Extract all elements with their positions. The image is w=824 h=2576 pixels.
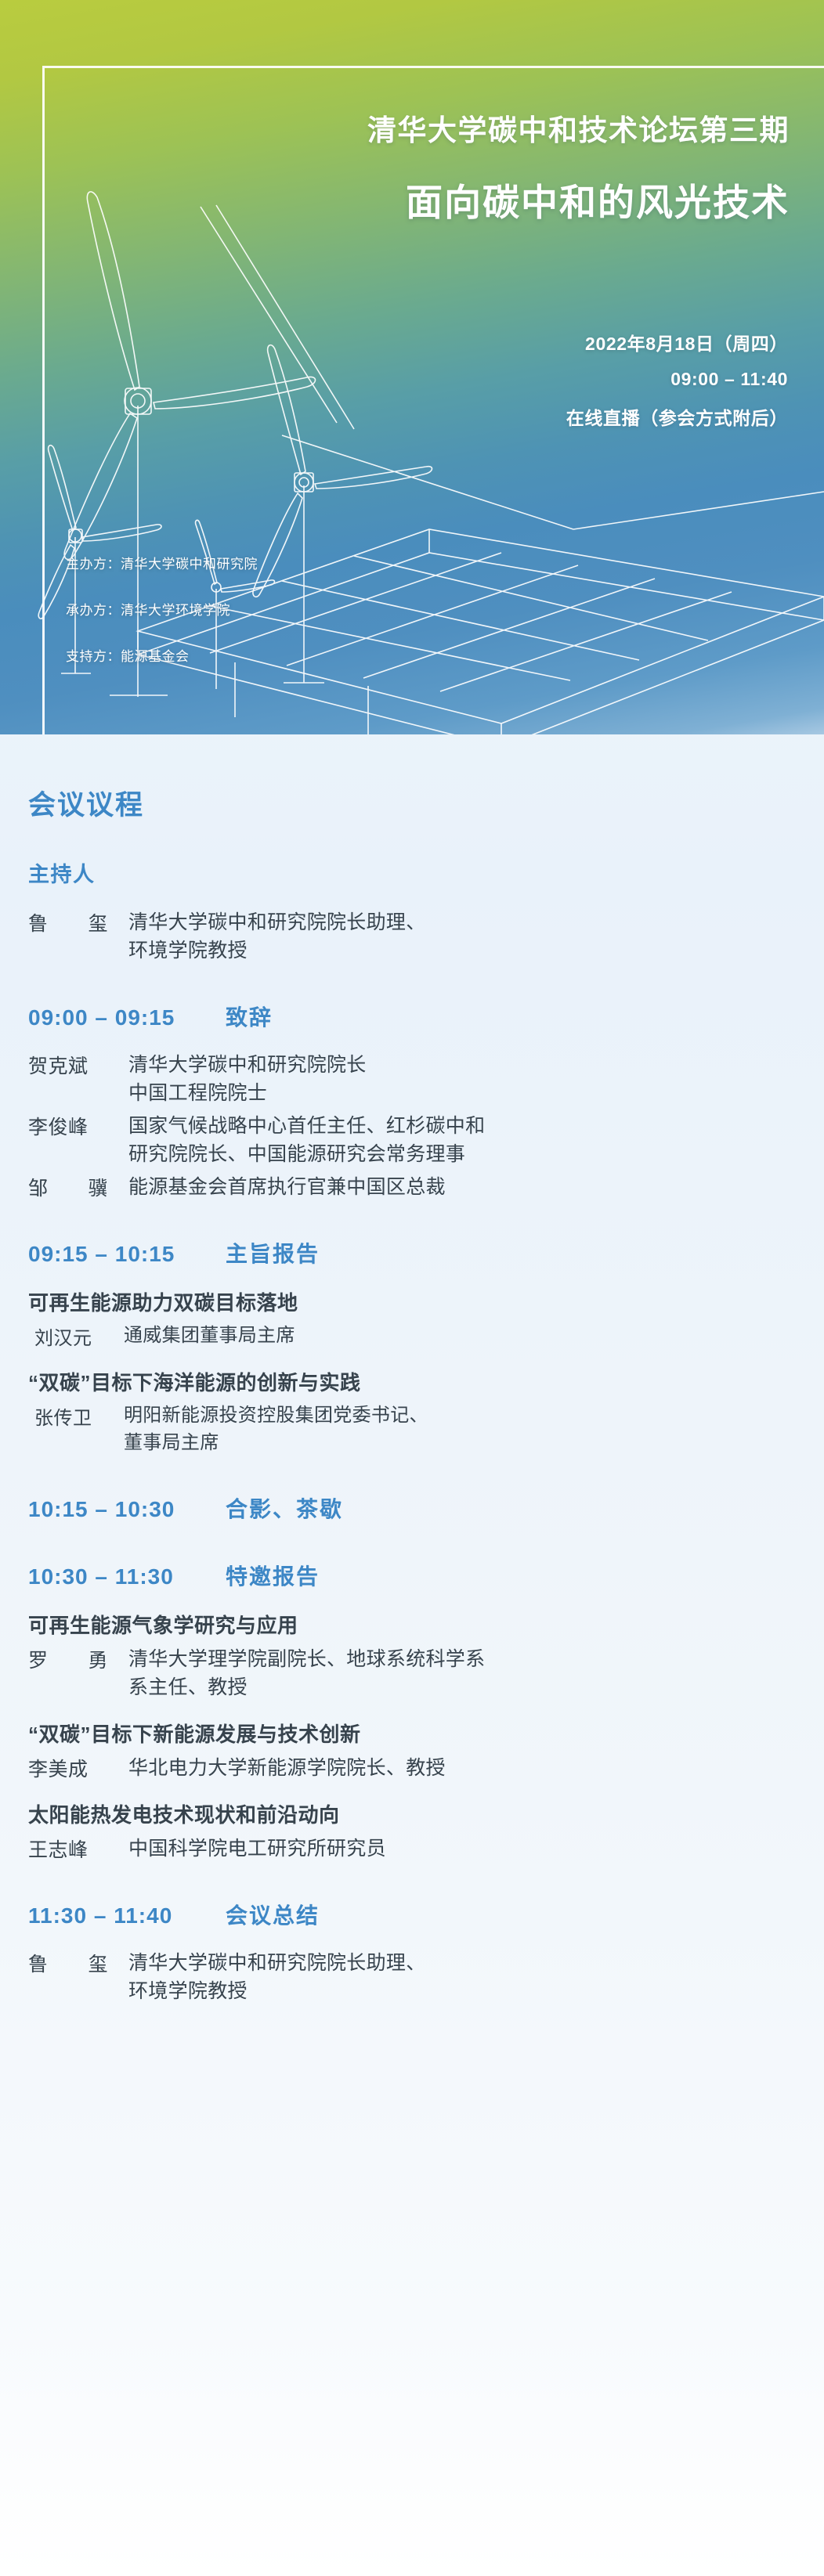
host-affiliation-line2: 环境学院教授 <box>128 940 248 961</box>
host-name: 鲁 玺 <box>28 908 128 936</box>
speaker-affiliation-line: 董事局主席 <box>124 1432 219 1453</box>
speaker-row: 鲁 玺 清华大学碳中和研究院院长助理、 环境学院教授 <box>28 1949 796 2005</box>
speaker-name: 刘汉元 <box>28 1322 124 1350</box>
hero-banner: 清华大学碳中和技术论坛第三期 面向碳中和的风光技术 2022年8月18日（周四）… <box>0 0 824 734</box>
supporter: 支持方：能源基金会 <box>66 645 258 665</box>
talk-speaker-row: 罗 勇 清华大学理学院副院长、地球系统科学系 系主任、教授 <box>28 1645 796 1701</box>
session-time: 09:00 – 09:15 <box>28 1005 226 1030</box>
agenda-heading: 会议议程 <box>28 783 796 823</box>
event-meta: 2022年8月18日（周四） 09:00 – 11:40 在线直播（参会方式附后… <box>0 329 788 443</box>
speaker-affiliation: 清华大学碳中和研究院院长 中国工程院院士 <box>128 1051 796 1107</box>
session-kind: 主旨报告 <box>226 1237 320 1268</box>
co-organizer: 承办方：清华大学环境学院 <box>66 599 258 619</box>
session-kind: 致辞 <box>226 1001 273 1032</box>
session-kind: 特邀报告 <box>226 1560 320 1591</box>
speaker-affiliation: 清华大学碳中和研究院院长助理、 环境学院教授 <box>128 1949 796 2005</box>
speaker-affiliation-line: 系主任、教授 <box>128 1676 248 1698</box>
speaker-affiliation: 中国科学院电工研究所研究员 <box>128 1835 796 1863</box>
forum-series-title: 清华大学碳中和技术论坛第三期 <box>0 106 790 149</box>
conference-poster: 清华大学碳中和技术论坛第三期 面向碳中和的风光技术 2022年8月18日（周四）… <box>0 0 824 2576</box>
speaker-affiliation-line: 研究院院长、中国能源研究会常务理事 <box>128 1143 465 1165</box>
session-header: 10:30 – 11:30 特邀报告 <box>28 1560 796 1591</box>
speaker-affiliation-line: 环境学院教授 <box>128 1980 248 2002</box>
talk-title: 太阳能热发电技术现状和前沿动向 <box>28 1799 796 1828</box>
speaker-name: 李美成 <box>28 1754 128 1782</box>
organizer: 主办方：清华大学碳中和研究院 <box>66 553 258 572</box>
speaker-affiliation: 清华大学理学院副院长、地球系统科学系 系主任、教授 <box>128 1645 796 1701</box>
session-time: 11:30 – 11:40 <box>28 1903 226 1928</box>
event-time: 09:00 – 11:40 <box>0 369 788 390</box>
session-header: 10:15 – 10:30 合影、茶歇 <box>28 1492 796 1524</box>
speaker-row: 李俊峰 国家气候战略中心首任主任、红杉碳中和 研究院院长、中国能源研究会常务理事 <box>28 1112 796 1168</box>
speaker-name: 张传卫 <box>28 1402 124 1430</box>
speaker-name: 贺克斌 <box>28 1051 128 1079</box>
talk-speaker-row: 李美成 华北电力大学新能源学院院长、教授 <box>28 1754 796 1782</box>
speaker-name: 鲁 玺 <box>28 1949 128 1977</box>
session-header: 09:00 – 09:15 致辞 <box>28 1001 796 1032</box>
speaker-affiliation: 通威集团董事局主席 <box>124 1322 796 1350</box>
host-affiliation: 清华大学碳中和研究院院长助理、 环境学院教授 <box>128 908 796 965</box>
speaker-row: 贺克斌 清华大学碳中和研究院院长 中国工程院院士 <box>28 1051 796 1107</box>
speaker-affiliation-line: 清华大学碳中和研究院院长 <box>128 1054 367 1076</box>
speaker-affiliation-line: 中国工程院院士 <box>128 1082 267 1104</box>
host-label: 主持人 <box>28 857 796 888</box>
speaker-affiliation: 能源基金会首席执行官兼中国区总裁 <box>128 1173 796 1201</box>
speaker-name: 李俊峰 <box>28 1112 128 1140</box>
speaker-name: 邹 骥 <box>28 1173 128 1201</box>
talk-title: “双碳”目标下海洋能源的创新与实践 <box>28 1367 796 1396</box>
talk-title: 可再生能源助力双碳目标落地 <box>28 1287 796 1316</box>
speaker-affiliation-line: 明阳新能源投资控股集团党委书记、 <box>124 1405 428 1426</box>
talk-speaker-row: 刘汉元 通威集团董事局主席 <box>28 1322 796 1350</box>
speaker-name: 王志峰 <box>28 1835 128 1863</box>
session-kind: 合影、茶歇 <box>226 1492 343 1524</box>
speaker-affiliation-line: 清华大学碳中和研究院院长助理、 <box>128 1952 426 1974</box>
talk-title: “双碳”目标下新能源发展与技术创新 <box>28 1719 796 1748</box>
speaker-affiliation-line: 清华大学理学院副院长、地球系统科学系 <box>128 1648 485 1670</box>
session-header: 09:15 – 10:15 主旨报告 <box>28 1237 796 1268</box>
event-date: 2022年8月18日（周四） <box>0 329 788 355</box>
speaker-affiliation-line: 国家气候战略中心首任主任、红杉碳中和 <box>128 1115 485 1137</box>
speaker-affiliation: 明阳新能源投资控股集团党委书记、 董事局主席 <box>124 1402 796 1456</box>
speaker-affiliation: 国家气候战略中心首任主任、红杉碳中和 研究院院长、中国能源研究会常务理事 <box>128 1112 796 1168</box>
speaker-name: 罗 勇 <box>28 1645 128 1673</box>
session-header: 11:30 – 11:40 会议总结 <box>28 1899 796 1930</box>
event-mode: 在线直播（参会方式附后） <box>0 403 788 430</box>
host-affiliation-line1: 清华大学碳中和研究院院长助理、 <box>128 911 426 933</box>
host-row: 鲁 玺 清华大学碳中和研究院院长助理、 环境学院教授 <box>28 908 796 965</box>
speaker-row: 邹 骥 能源基金会首席执行官兼中国区总裁 <box>28 1173 796 1201</box>
talk-speaker-row: 张传卫 明阳新能源投资控股集团党委书记、 董事局主席 <box>28 1402 796 1456</box>
organizer-list: 主办方：清华大学碳中和研究院 承办方：清华大学环境学院 支持方：能源基金会 <box>66 553 258 665</box>
session-time: 10:30 – 11:30 <box>28 1564 226 1589</box>
session-time: 10:15 – 10:30 <box>28 1497 226 1522</box>
talk-speaker-row: 王志峰 中国科学院电工研究所研究员 <box>28 1835 796 1863</box>
speaker-affiliation: 华北电力大学新能源学院院长、教授 <box>128 1754 796 1782</box>
session-time: 09:15 – 10:15 <box>28 1242 226 1267</box>
talk-title: 可再生能源气象学研究与应用 <box>28 1610 796 1639</box>
forum-main-title: 面向碳中和的风光技术 <box>0 172 790 226</box>
session-kind: 会议总结 <box>226 1899 320 1930</box>
agenda-section: 会议议程 主持人 鲁 玺 清华大学碳中和研究院院长助理、 环境学院教授 09:0… <box>0 734 824 2065</box>
